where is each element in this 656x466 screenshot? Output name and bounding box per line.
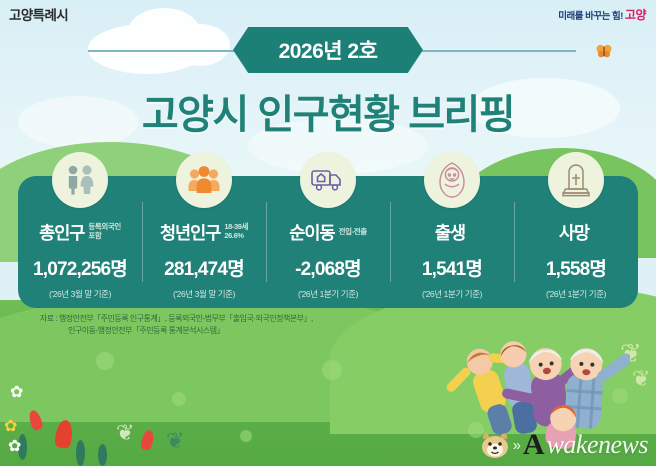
- stat-label: 출생: [435, 220, 465, 245]
- stat-heading: 청년인구 18-39세 26.6%: [160, 217, 248, 247]
- fern-icon: ❦: [166, 428, 184, 454]
- stat-note: ('26년 1분기 기준): [422, 288, 482, 300]
- watermark: » A wakenews: [479, 430, 648, 460]
- stat-sublabel: 18-39세 26.6%: [224, 223, 248, 240]
- gravestone-icon: [548, 152, 604, 208]
- stat-sublabel: 등록외국인 포함: [88, 223, 121, 240]
- source-line-1: 자료 : 행정안전부「주민등록 인구통계」, 등록외국인-법무부「출입국·외국인…: [40, 314, 313, 323]
- icon-slot: [266, 152, 390, 212]
- page-title: 고양시 인구현황 브리핑: [0, 82, 656, 140]
- badge-rule-right: [408, 50, 576, 52]
- stat-value: -2,068명: [295, 254, 361, 281]
- leaf-icon: [98, 444, 107, 466]
- stat-heading: 출생: [435, 217, 469, 247]
- stat-note: ('26년 1분기 기준): [546, 288, 606, 300]
- source-line-2: 인구이동-행정안전부「주민등록 통계분석시스템」: [40, 325, 460, 337]
- stat-label: 사망: [559, 220, 589, 245]
- grass-dot: [172, 392, 186, 406]
- city-logo: 고양특례시: [9, 4, 68, 24]
- daisy-flower-icon: [8, 438, 24, 454]
- butterfly-icon: [596, 44, 612, 61]
- stat-label: 청년인구: [160, 220, 220, 245]
- cloud-shape: [170, 24, 230, 66]
- dog-mascot-icon: [479, 431, 511, 459]
- grass-dot: [96, 352, 114, 370]
- source-note: 자료 : 행정안전부「주민등록 인구통계」, 등록외국인-법무부「출입국·외국인…: [40, 313, 460, 338]
- stat-value: 1,558명: [546, 254, 606, 281]
- fern-icon: ❦: [116, 420, 134, 446]
- stat-heading: 사망: [559, 217, 593, 247]
- stat-note: ('26년 3월 말 기준): [49, 288, 111, 300]
- stat-label: 총인구: [39, 220, 84, 245]
- stat-heading: 총인구 등록외국인 포함: [39, 217, 121, 247]
- issue-badge: 2026년 2호: [233, 27, 423, 73]
- stat-note: ('26년 1분기 기준): [298, 288, 358, 300]
- watermark-initial: A: [523, 430, 545, 460]
- double-chevron-right-icon: »: [513, 437, 521, 454]
- leaf-icon: [76, 440, 85, 466]
- male-female-pair-icon: [52, 152, 108, 208]
- stat-note: ('26년 3월 말 기준): [173, 288, 235, 300]
- daisy-flower-icon: [10, 384, 26, 400]
- stat-value: 281,474명: [164, 254, 244, 281]
- issue-badge-label: 2026년 2호: [279, 35, 378, 65]
- slogan-text: 미래를 바꾸는 힘!: [558, 11, 623, 22]
- moving-truck-icon: [300, 152, 356, 208]
- icon-slot: [514, 152, 638, 212]
- slogan-brand: 고양: [625, 8, 646, 22]
- daisy-flower-icon: [4, 418, 20, 434]
- stat-sublabel: 전입-전출: [339, 228, 367, 237]
- swaddled-baby-icon: [424, 152, 480, 208]
- icon-slot: [142, 152, 266, 212]
- stat-value: 1,072,256명: [33, 254, 127, 281]
- people-group-icon: [176, 152, 232, 208]
- icon-slot: [18, 152, 142, 212]
- watermark-text: wakenews: [547, 430, 648, 460]
- fern-icon: ❦: [632, 366, 650, 392]
- stat-label: 순이동: [289, 220, 334, 245]
- city-slogan: 미래를 바꾸는 힘!고양: [558, 6, 646, 23]
- grass-dot: [322, 360, 342, 380]
- stat-icons-row: [18, 152, 638, 212]
- icon-slot: [390, 152, 514, 212]
- stat-heading: 순이동 전입-전출: [289, 217, 366, 247]
- grass-dot: [240, 430, 252, 442]
- stat-value: 1,541명: [422, 254, 482, 281]
- infographic-poster: 고양특례시 미래를 바꾸는 힘!고양 2026년 2호 고양시 인구현황 브리핑: [0, 0, 656, 466]
- badge-rule-left: [88, 50, 248, 52]
